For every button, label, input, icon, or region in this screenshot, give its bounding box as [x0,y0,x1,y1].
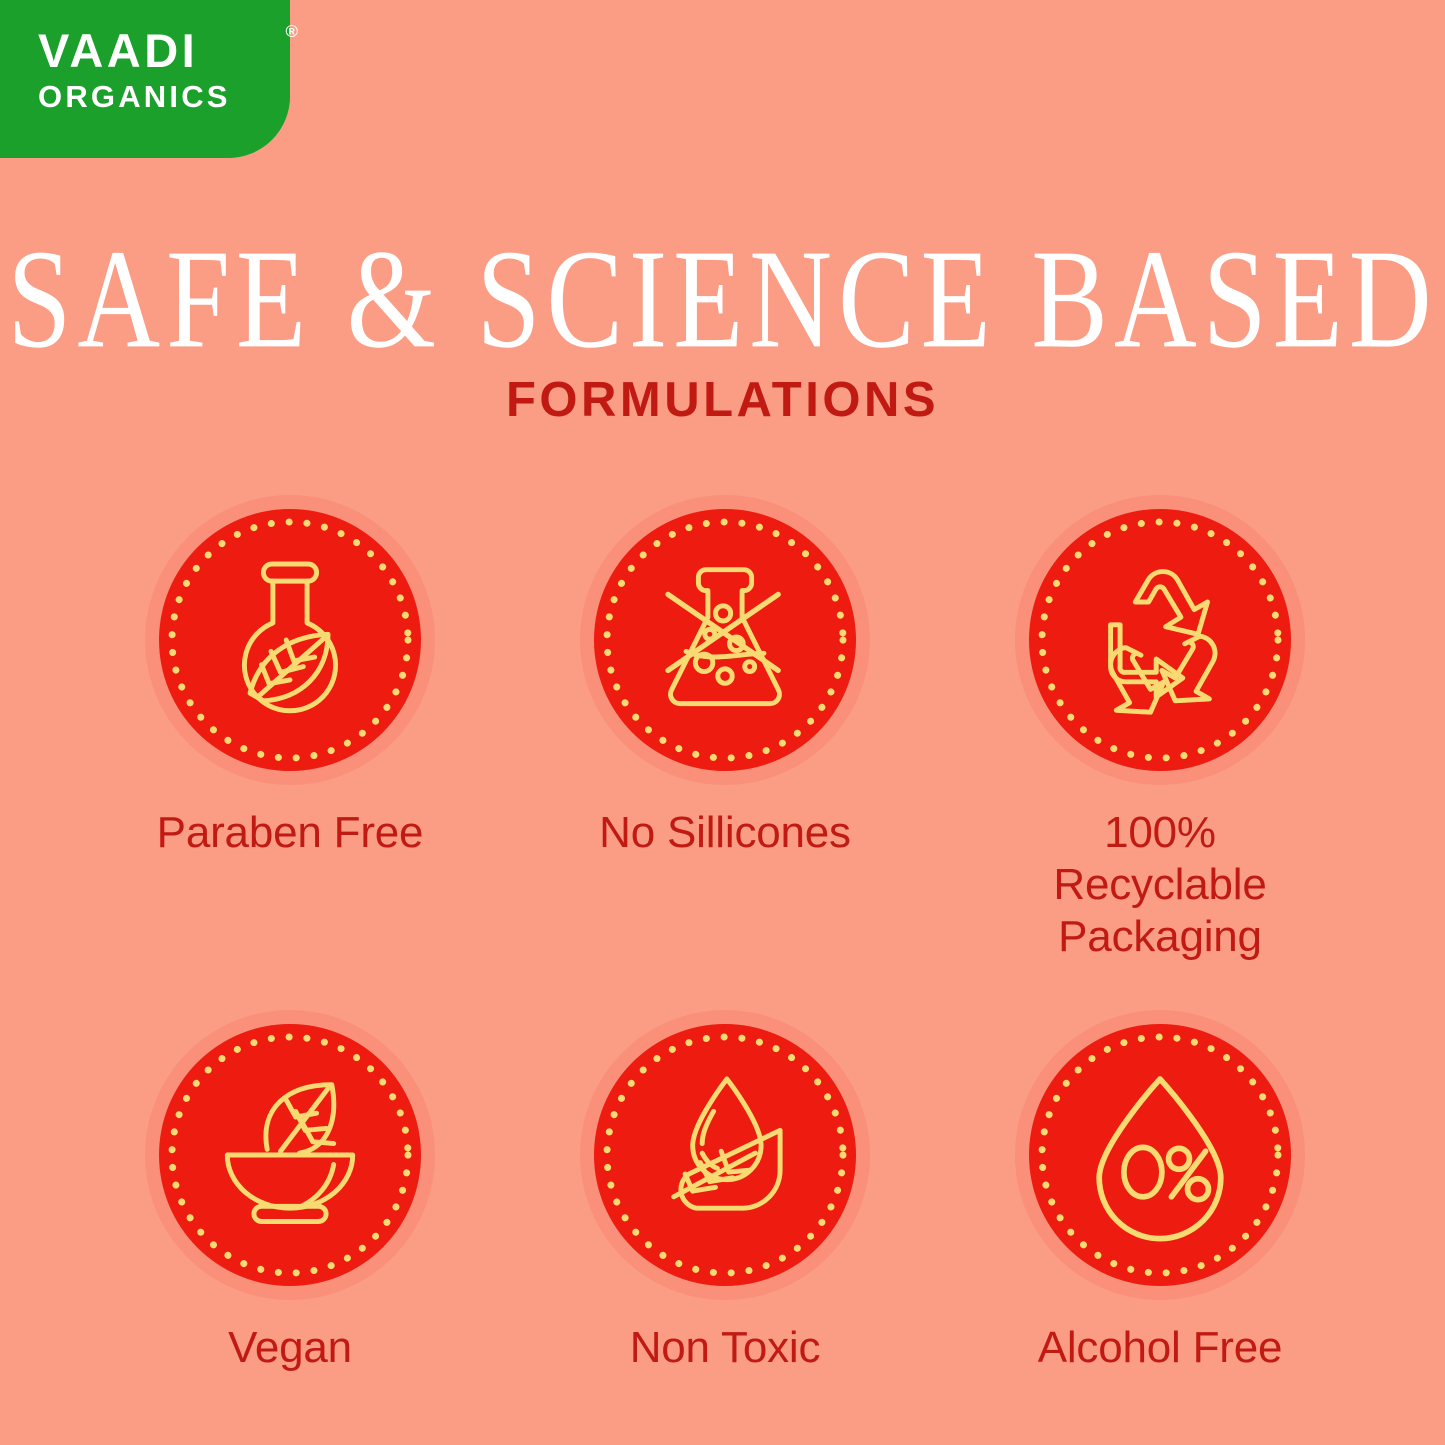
badge-disc [594,509,856,771]
badge-label-line1: No Sillicones [560,807,890,859]
no-silicones-icon [630,545,820,735]
badge-halo [145,1010,435,1300]
badge-label: 100% Recyclable Packaging [995,807,1325,963]
badge-label-line1: Vegan [125,1322,455,1374]
badge-label-line1: 100% Recyclable [995,807,1325,911]
badge-no-sillicones: No Sillicones [560,495,890,859]
badge-disc [594,1024,856,1286]
page-headline: SAFE & SCIENCE BASED [7,228,1438,372]
badge-label: Vegan [125,1322,455,1374]
badge-halo [1015,1010,1305,1300]
badge-recyclable-packaging: 100% Recyclable Packaging [995,495,1325,963]
badge-label-line2: Packaging [995,911,1325,963]
promo-infographic: VAADI ® ORGANICS SAFE & SCIENCE BASED FO… [0,0,1445,1445]
badge-disc [1029,1024,1291,1286]
badge-halo [1015,495,1305,785]
badge-label: Non Toxic [560,1322,890,1374]
flask-leaf-icon [195,545,385,735]
badge-halo [580,495,870,785]
brand-logo-text: VAADI ® ORGANICS [38,26,278,116]
badge-label-line1: Non Toxic [560,1322,890,1374]
badge-paraben-free: Paraben Free [125,495,455,859]
droplet-leaf-icon [630,1060,820,1250]
badge-disc [159,1024,421,1286]
bowl-leaf-icon [195,1060,385,1250]
droplet-zero-percent-icon [1065,1060,1255,1250]
badge-vegan: Vegan [125,1010,455,1374]
brand-logo: VAADI ® ORGANICS [0,0,290,158]
recycle-icon [1065,545,1255,735]
badge-label: Paraben Free [125,807,455,859]
badge-halo [580,1010,870,1300]
badge-label-line1: Paraben Free [125,807,455,859]
badge-disc [159,509,421,771]
page-subheadline: FORMULATIONS [0,372,1445,428]
registered-trademark-icon: ® [285,22,298,42]
badge-disc [1029,509,1291,771]
brand-name-secondary: ORGANICS [38,78,278,116]
badge-halo [145,495,435,785]
badge-label: Alcohol Free [995,1322,1325,1374]
badge-non-toxic: Non Toxic [560,1010,890,1374]
brand-name-primary: VAADI [38,26,198,76]
badge-label: No Sillicones [560,807,890,859]
badge-label-line1: Alcohol Free [995,1322,1325,1374]
badge-alcohol-free: Alcohol Free [995,1010,1325,1374]
